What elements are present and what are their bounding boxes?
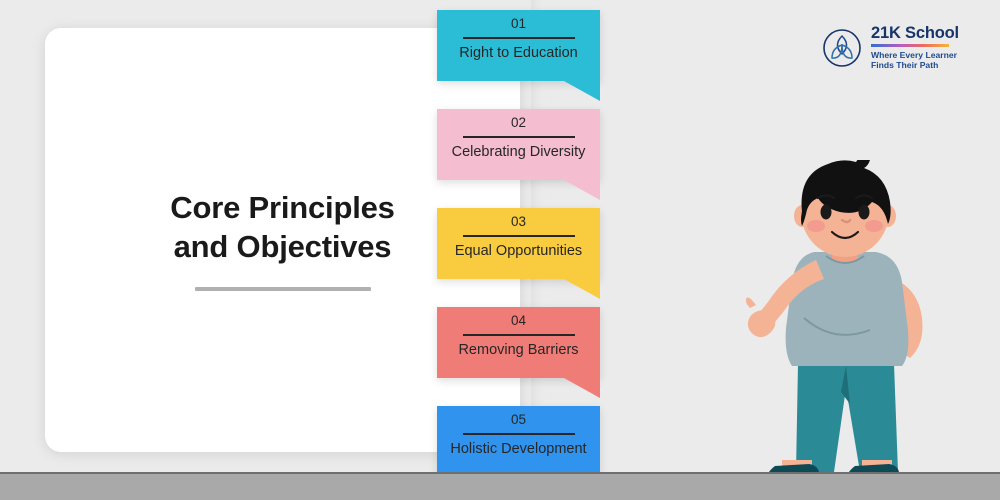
- boy-pointing-illustration: [742, 160, 952, 480]
- principle-card-5[interactable]: 05 Holistic Development: [437, 406, 600, 477]
- floor-strip: [0, 472, 1000, 500]
- principle-card-3[interactable]: 03 Equal Opportunities: [437, 208, 600, 279]
- principle-card-body: 03 Equal Opportunities: [437, 208, 600, 279]
- speech-bubble-tail: [564, 180, 600, 200]
- lotus-circle-icon: [822, 28, 862, 68]
- principles-list: 01 Right to Education 02 Celebrating Div…: [437, 0, 607, 500]
- principle-label: Removing Barriers: [458, 343, 578, 359]
- logo-tagline: Where Every Learner Finds Their Path: [871, 50, 959, 71]
- logo-name: 21K School: [871, 25, 959, 42]
- principle-divider: [463, 136, 575, 139]
- principle-card-body: 05 Holistic Development: [437, 406, 600, 477]
- principle-card-body: 02 Celebrating Diversity: [437, 109, 600, 180]
- principle-card-4[interactable]: 04 Removing Barriers: [437, 307, 600, 378]
- principle-number: 05: [511, 413, 526, 427]
- principle-divider: [463, 334, 575, 337]
- principle-divider: [463, 37, 575, 40]
- principle-card-2[interactable]: 02 Celebrating Diversity: [437, 109, 600, 180]
- speech-bubble-tail: [564, 81, 600, 101]
- logo-text-block: 21K School Where Every Learner Finds The…: [871, 25, 959, 71]
- principle-card-body: 04 Removing Barriers: [437, 307, 600, 378]
- principle-label: Equal Opportunities: [455, 244, 582, 260]
- speech-bubble-tail: [564, 279, 600, 299]
- principle-card-1[interactable]: 01 Right to Education: [437, 10, 600, 81]
- slide-canvas: Core Principles and Objectives 01 Right …: [0, 0, 1000, 500]
- principle-number: 03: [511, 215, 526, 229]
- principle-label: Holistic Development: [450, 442, 586, 458]
- page-title: Core Principles and Objectives: [160, 189, 404, 267]
- principle-card-body: 01 Right to Education: [437, 10, 600, 81]
- speech-bubble-tail: [564, 378, 600, 398]
- principle-label: Celebrating Diversity: [452, 145, 586, 161]
- brand-logo[interactable]: 21K School Where Every Learner Finds The…: [822, 26, 972, 70]
- principle-number: 02: [511, 116, 526, 130]
- principle-label: Right to Education: [459, 46, 578, 62]
- principle-number: 01: [511, 17, 526, 31]
- principle-divider: [463, 433, 575, 436]
- logo-gradient-bar: [871, 44, 949, 47]
- principle-number: 04: [511, 314, 526, 328]
- title-underline: [195, 287, 371, 291]
- principle-divider: [463, 235, 575, 238]
